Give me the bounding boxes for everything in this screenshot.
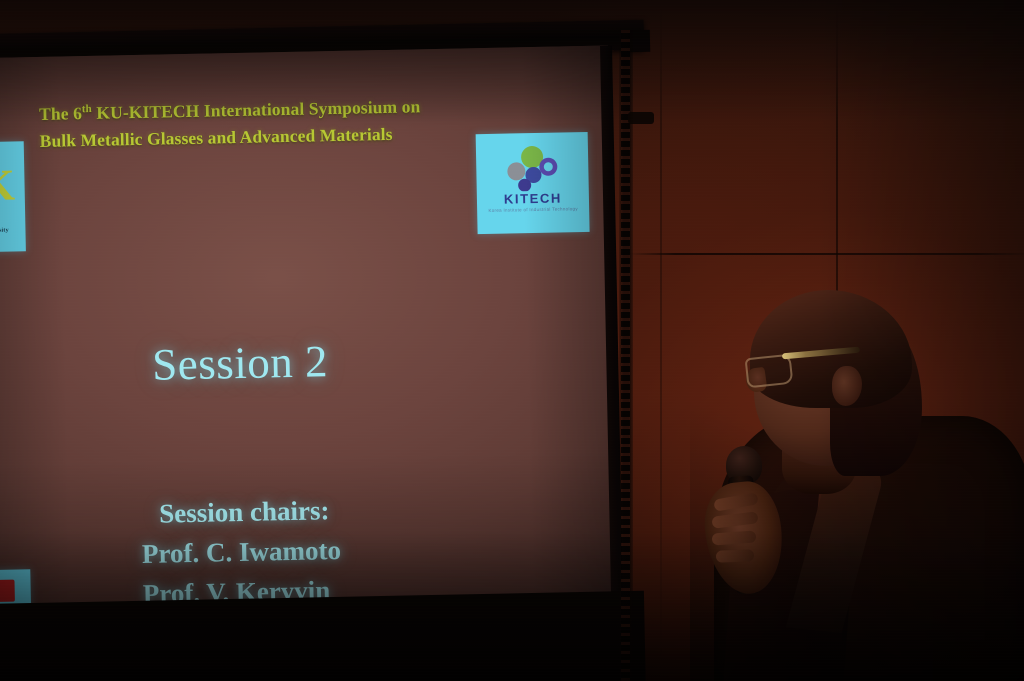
wall-panel-seam-horizontal [628, 253, 1024, 255]
wall-panel-seam-vertical-left [660, 0, 662, 681]
kitech-logo-subtitle: Korea Institute of Industrial Technology [477, 206, 589, 213]
slide-session-chairs: Session chairs: Prof. C. Iwamoto Prof. V… [141, 491, 342, 615]
screen-lower-dark-area [0, 591, 646, 681]
university-logo-glyph: K [0, 160, 7, 213]
slide-header-line-1-rest: KU-KITECH International Symposium on [92, 96, 421, 123]
kitech-wordmark: KITECH [477, 190, 589, 207]
kitech-logo: KITECH Korea Institute of Industrial Tec… [476, 132, 590, 234]
slide-header-ordinal-suffix: th [82, 103, 92, 115]
wall-rail-bracket [628, 112, 654, 124]
wall-rail-rungs [621, 30, 630, 681]
slide-header-line-1-prefix: The 6 [39, 103, 82, 124]
speaker-finger [716, 549, 754, 562]
slide-session-heading: Session 2 [152, 339, 329, 388]
presentation-photo-scene: The 6th KU-KITECH International Symposiu… [0, 0, 1024, 681]
university-logo: K University [0, 141, 26, 252]
projected-slide: The 6th KU-KITECH International Symposiu… [0, 46, 619, 620]
session-chairs-label: Session chairs: [141, 491, 341, 535]
speaker-figure [690, 290, 1024, 681]
kitech-logo-mark-icon [502, 144, 563, 191]
projection-screen: The 6th KU-KITECH International Symposiu… [0, 0, 642, 681]
university-logo-caption: University [0, 227, 22, 234]
sponsor-logo-shape-upper [0, 580, 15, 603]
session-chair-name-1: Prof. C. Iwamoto [142, 531, 342, 575]
slide-header-title: The 6th KU-KITECH International Symposiu… [39, 92, 470, 155]
